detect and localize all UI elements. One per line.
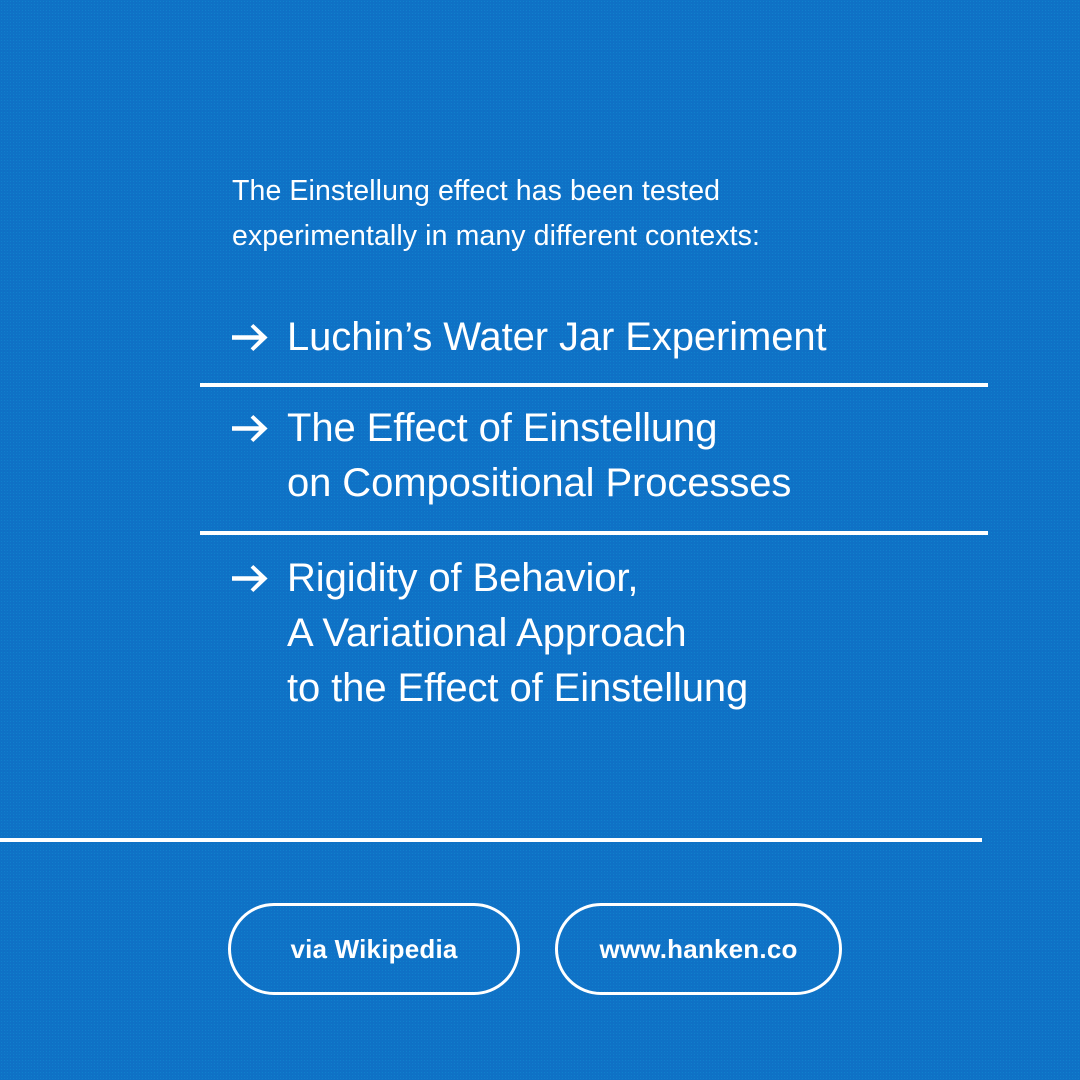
arrow-right-icon — [232, 310, 287, 365]
context-list: Luchin’s Water Jar Experiment The Effect… — [200, 300, 988, 716]
social-card: The Einstellung effect has been tested e… — [0, 0, 1080, 1080]
arrow-right-icon — [232, 401, 287, 456]
list-item[interactable]: Luchin’s Water Jar Experiment — [200, 300, 988, 383]
list-item-label: Rigidity of Behavior, A Variational Appr… — [287, 551, 988, 716]
list-item-label: The Effect of Einstellung on Composition… — [287, 401, 988, 511]
list-item[interactable]: Rigidity of Behavior, A Variational Appr… — [200, 535, 988, 716]
list-item[interactable]: The Effect of Einstellung on Composition… — [200, 387, 988, 531]
footer-divider — [0, 838, 982, 842]
footer-pill-group: via Wikipedia www.hanken.co — [228, 903, 842, 995]
arrow-right-icon — [232, 551, 287, 606]
intro-paragraph: The Einstellung effect has been tested e… — [232, 169, 932, 259]
source-pill-button[interactable]: via Wikipedia — [228, 903, 520, 995]
list-item-label: Luchin’s Water Jar Experiment — [287, 310, 988, 365]
website-pill-button[interactable]: www.hanken.co — [555, 903, 842, 995]
